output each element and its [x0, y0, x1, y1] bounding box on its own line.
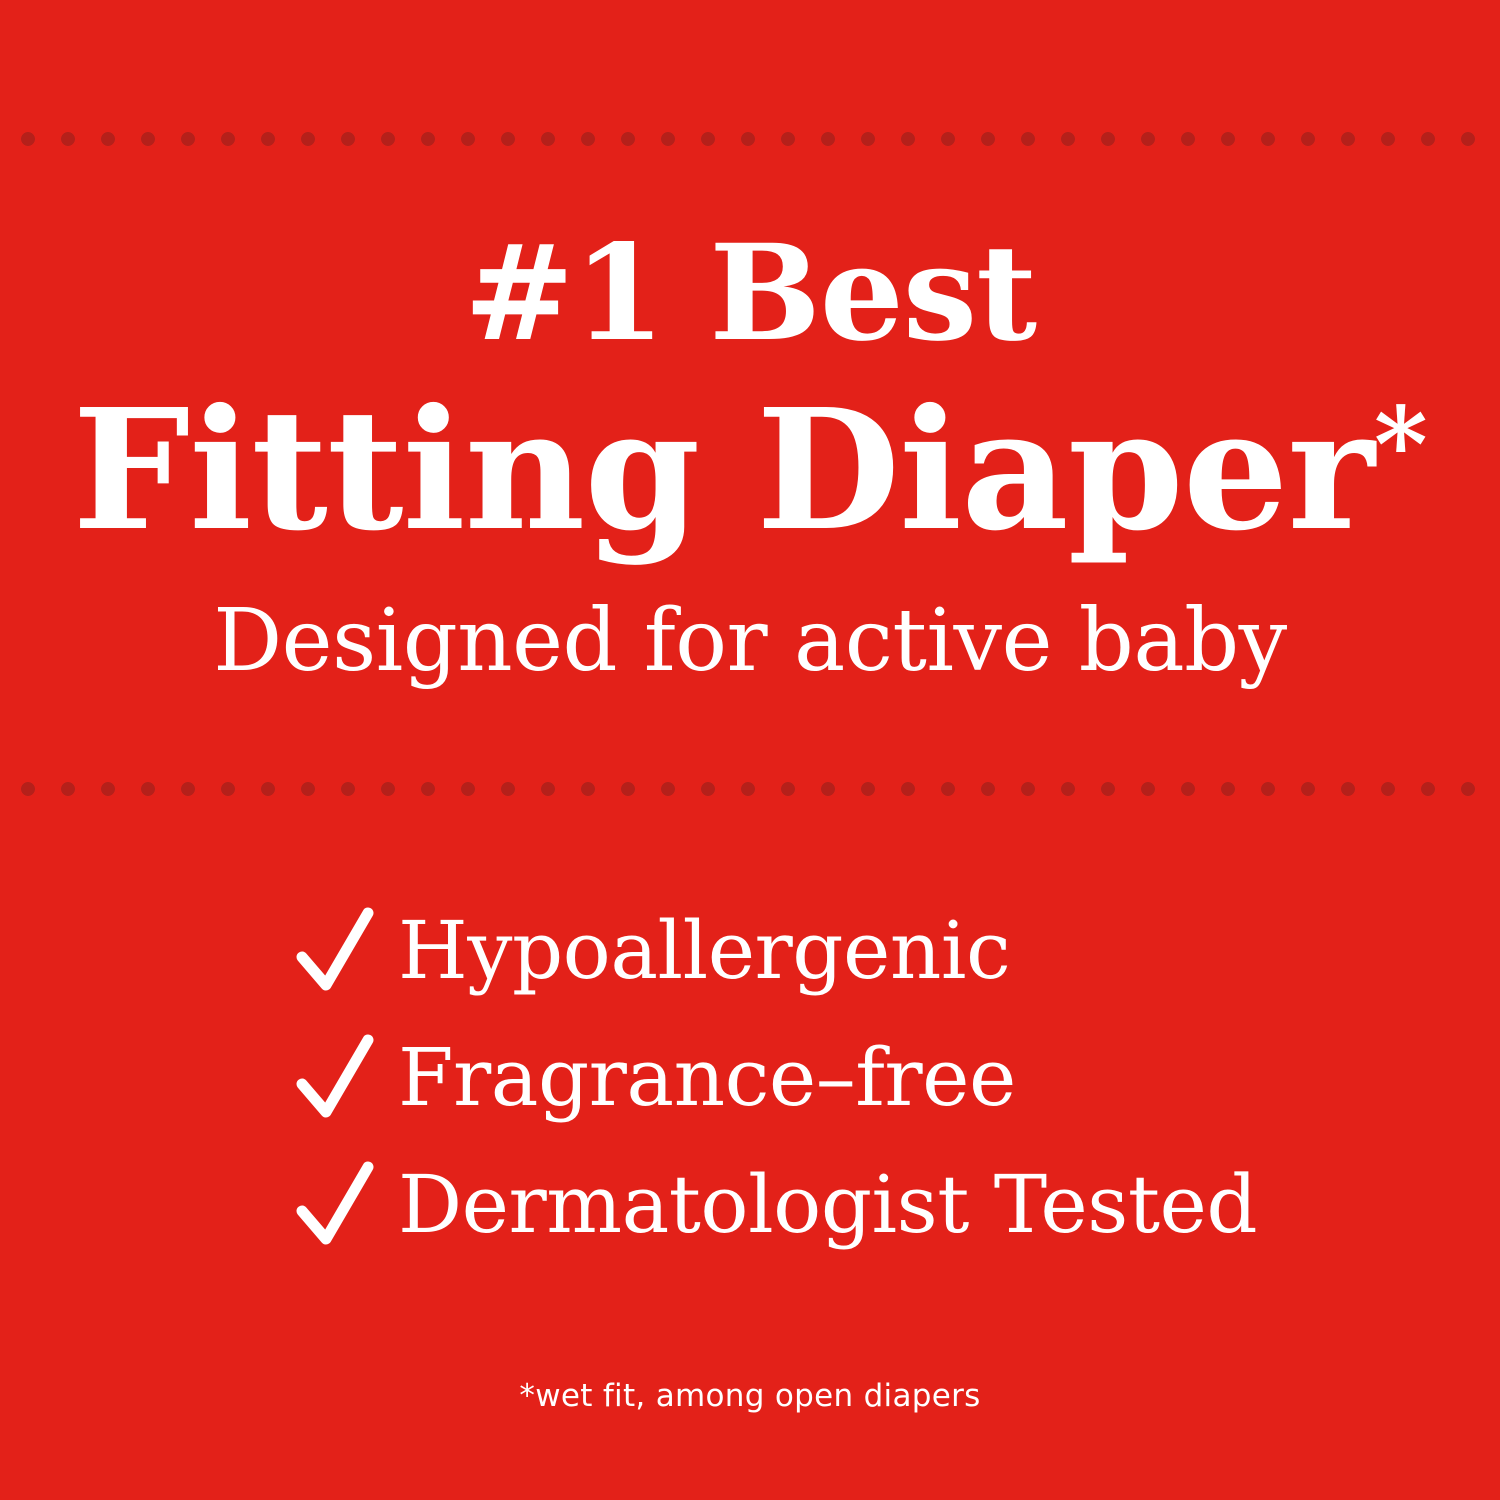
list-item: Fragrance–free [296, 1032, 1396, 1124]
headline-line-2-text: Fitting Diaper [72, 373, 1374, 568]
list-item: Dermatologist Tested [296, 1159, 1396, 1251]
list-item: Hypoallergenic [296, 905, 1396, 997]
headline-line-2: Fitting Diaper* [0, 388, 1500, 554]
checkmark-icon [296, 1032, 374, 1124]
list-item-label: Hypoallergenic [398, 911, 1010, 991]
benefits-list: Hypoallergenic Fragrance–free Dermatolog… [296, 905, 1396, 1251]
subheadline: Designed for active baby [0, 598, 1500, 684]
promo-poster: #1 Best Fitting Diaper* Designed for act… [0, 0, 1500, 1500]
footnote-disclaimer: *wet fit, among open diapers [0, 1378, 1500, 1414]
dotted-divider-top [0, 132, 1500, 146]
dotted-divider-bottom [0, 782, 1500, 796]
checkmark-icon [296, 1159, 374, 1251]
headline-block: #1 Best Fitting Diaper* Designed for act… [0, 228, 1500, 684]
checkmark-icon [296, 905, 374, 997]
headline-line-1: #1 Best [0, 228, 1500, 360]
list-item-label: Dermatologist Tested [398, 1165, 1257, 1245]
headline-asterisk: * [1374, 385, 1428, 506]
list-item-label: Fragrance–free [398, 1038, 1016, 1118]
